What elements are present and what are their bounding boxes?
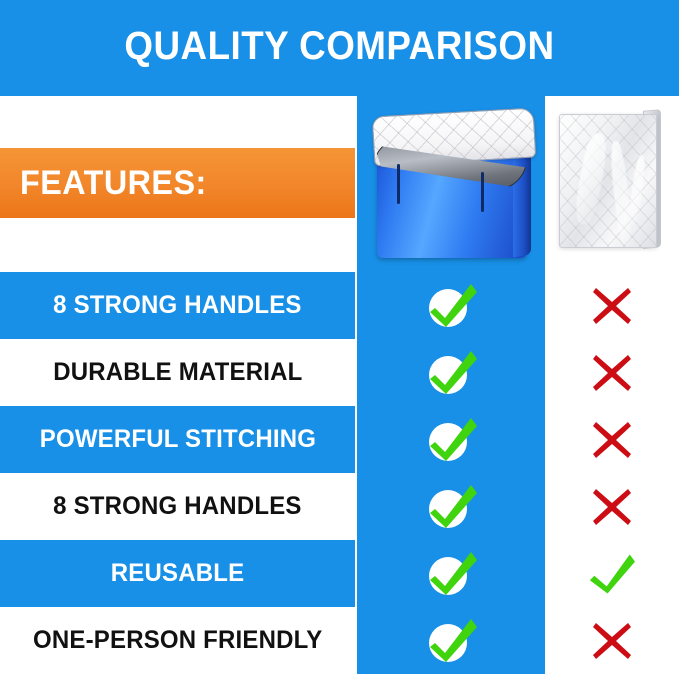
plastic-sheen-shape: [572, 132, 610, 226]
plastic-body-shape: [559, 114, 657, 248]
red-cross-icon: [592, 286, 632, 326]
feature-name-cell: 8 STRONG HANDLES: [0, 473, 355, 540]
feature-label: ONE-PERSON FRIENDLY: [33, 626, 322, 655]
green-check-circle-icon: [425, 280, 477, 332]
theirs-result-cell: [545, 272, 679, 339]
quality-comparison-infographic: QUALITY COMPARISON FEATURES: 8 STRONG HA…: [0, 0, 679, 674]
feature-name-cell: POWERFUL STITCHING: [0, 406, 355, 473]
ours-result-cell: [357, 473, 545, 540]
feature-label: REUSABLE: [111, 559, 245, 588]
feature-name-cell: DURABLE MATERIAL: [0, 339, 355, 406]
ours-result-cell: [357, 406, 545, 473]
ours-result-cell: [357, 339, 545, 406]
feature-name-cell: ONE-PERSON FRIENDLY: [0, 607, 355, 674]
red-cross-icon: [592, 621, 632, 661]
bag-handle-right-shape: [481, 172, 484, 212]
plastic-sheen-shape: [609, 141, 634, 246]
table-row: 8 STRONG HANDLES: [0, 272, 679, 339]
green-check-circle-icon: [425, 481, 477, 533]
table-row: 8 STRONG HANDLES: [0, 473, 679, 540]
ours-result-cell: [357, 272, 545, 339]
red-cross-icon: [592, 420, 632, 460]
green-check-circle-icon: [425, 615, 477, 667]
theirs-result-cell: [545, 607, 679, 674]
blue-mattress-bag-image: [363, 106, 539, 266]
theirs-result-cell: [545, 339, 679, 406]
feature-label: 8 STRONG HANDLES: [53, 492, 301, 521]
feature-label: POWERFUL STITCHING: [39, 425, 315, 454]
features-column-header: FEATURES:: [0, 148, 355, 218]
page-title: QUALITY COMPARISON: [27, 20, 652, 72]
theirs-result-cell: [545, 473, 679, 540]
feature-name-cell: REUSABLE: [0, 540, 355, 607]
green-check-icon: [589, 551, 635, 597]
table-row: DURABLE MATERIAL: [0, 339, 679, 406]
table-row: REUSABLE: [0, 540, 679, 607]
green-check-circle-icon: [425, 548, 477, 600]
table-row: POWERFUL STITCHING: [0, 406, 679, 473]
feature-name-cell: 8 STRONG HANDLES: [0, 272, 355, 339]
table-row: ONE-PERSON FRIENDLY: [0, 607, 679, 674]
green-check-circle-icon: [425, 347, 477, 399]
product-images-area: [357, 96, 679, 272]
features-column-header-label: FEATURES:: [20, 164, 207, 203]
clear-plastic-mattress-bag-image: [553, 104, 665, 262]
bag-handle-left-shape: [397, 164, 400, 204]
red-cross-icon: [592, 353, 632, 393]
green-check-circle-icon: [425, 414, 477, 466]
plastic-sheen-shape: [627, 155, 647, 226]
feature-label: 8 STRONG HANDLES: [53, 291, 301, 320]
feature-label: DURABLE MATERIAL: [53, 358, 302, 387]
red-cross-icon: [592, 487, 632, 527]
ours-result-cell: [357, 540, 545, 607]
theirs-result-cell: [545, 406, 679, 473]
ours-result-cell: [357, 607, 545, 674]
theirs-result-cell: [545, 540, 679, 607]
